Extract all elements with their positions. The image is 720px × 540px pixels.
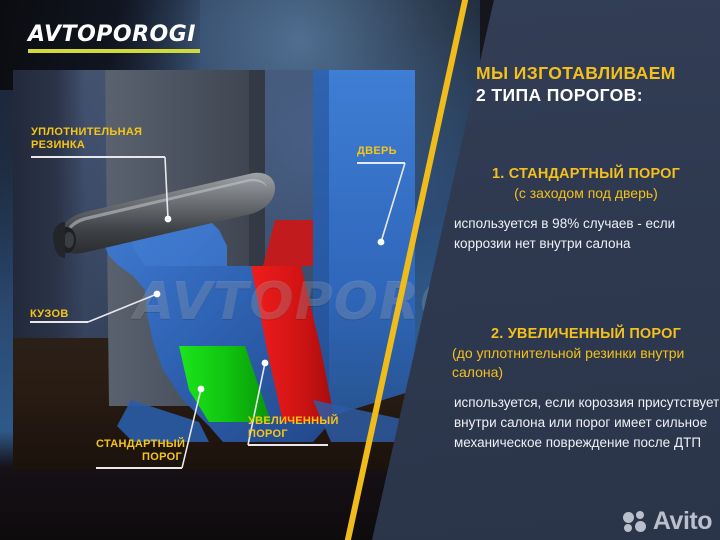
panel-heading: МЫ ИЗГОТАВЛИВАЕМ 2 ТИПА ПОРОГОВ: <box>476 62 720 106</box>
block1-body: используется в 98% случаев - если корроз… <box>452 214 720 254</box>
brand-logo-text: AVTOPOROGI <box>28 24 200 46</box>
label-seal: УПЛОТНИТЕЛЬНАЯ РЕЗИНКА <box>31 126 142 152</box>
block2-body: используется, если короззия присутствует… <box>452 393 720 453</box>
label-door-text: ДВЕРЬ <box>357 145 397 157</box>
block2-subtitle: (до уплотнительной резинки внутри салона… <box>452 344 720 382</box>
label-standard-line2: ПОРОГ <box>142 451 182 463</box>
avito-logo-text: Avito <box>653 509 712 534</box>
label-seal-line1: УПЛОТНИТЕЛЬНАЯ <box>31 126 142 138</box>
label-seal-line2: РЕЗИНКА <box>31 139 85 151</box>
avito-dots-icon <box>623 511 649 533</box>
label-body-text: КУЗОВ <box>30 308 69 320</box>
sill-type-block-2: 2. УВЕЛИЧЕННЫЙ ПОРОГ (до уплотнительной … <box>452 325 720 453</box>
brand-logo: AVTOPOROGI <box>28 24 200 53</box>
block1-title: 1. СТАНДАРТНЫЙ ПОРОГ <box>452 165 720 184</box>
brand-logo-underline <box>28 49 200 53</box>
label-door: ДВЕРЬ <box>357 145 397 158</box>
advertisement-image: AVTOPOROGI AVTOPOROGI УПЛОТНИТЕЛЬНАЯ РЕЗ… <box>0 0 720 540</box>
panel-heading-line2: 2 ТИПА ПОРОГОВ: <box>476 84 720 106</box>
label-standard-sill: СТАНДАРТНЫЙ ПОРОГ <box>96 438 182 464</box>
sill-type-block-1: 1. СТАНДАРТНЫЙ ПОРОГ (с заходом под двер… <box>452 165 720 254</box>
label-extended-line2: ПОРОГ <box>248 428 288 440</box>
avito-logo: Avito <box>623 509 712 534</box>
block2-title: 2. УВЕЛИЧЕННЫЙ ПОРОГ <box>452 325 720 344</box>
label-standard-line1: СТАНДАРТНЫЙ <box>96 438 185 450</box>
panel-heading-line1: МЫ ИЗГОТАВЛИВАЕМ <box>476 62 720 84</box>
label-extended-line1: УВЕЛИЧЕННЫЙ <box>248 415 339 427</box>
label-body: КУЗОВ <box>30 308 69 321</box>
label-extended-sill: УВЕЛИЧЕННЫЙ ПОРОГ <box>248 415 339 441</box>
block1-subtitle: (с заходом под дверь) <box>452 184 720 203</box>
info-panel: МЫ ИЗГОТАВЛИВАЕМ 2 ТИПА ПОРОГОВ: 1. СТАН… <box>452 0 720 540</box>
